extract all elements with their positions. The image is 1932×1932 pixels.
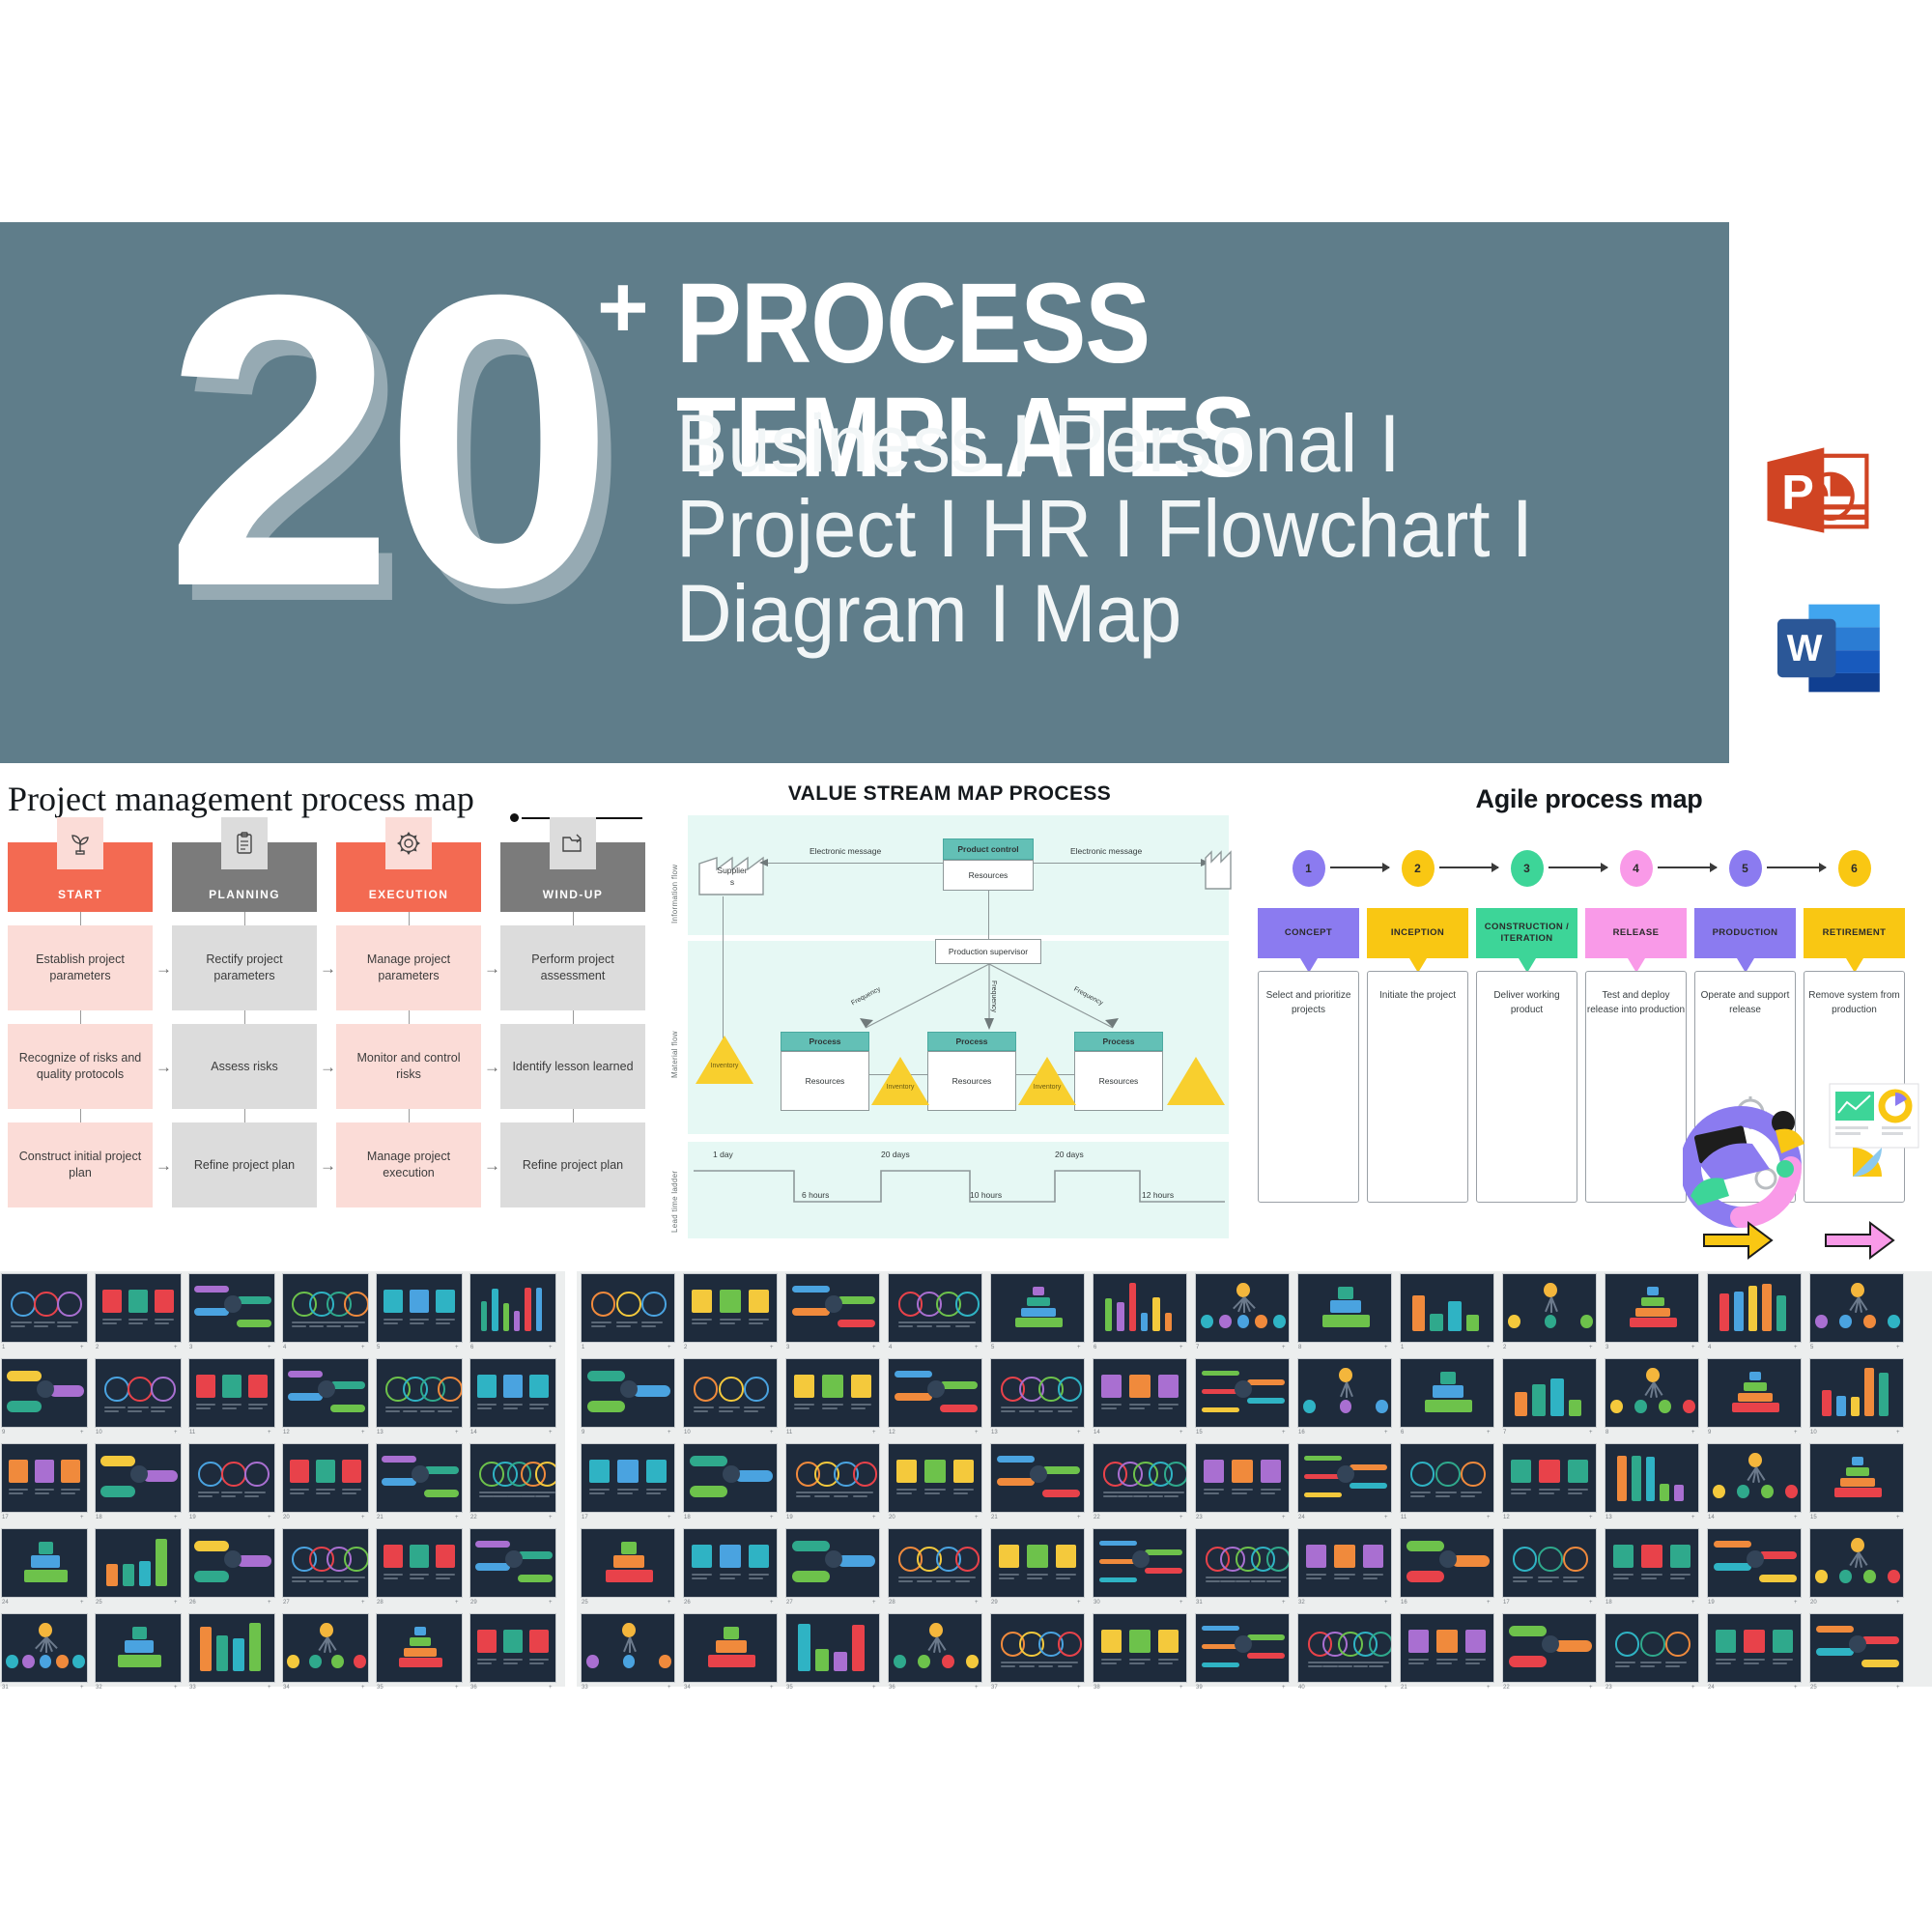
thumbnail-add-icon[interactable]: + bbox=[1077, 1600, 1081, 1605]
thumbnail-preview[interactable] bbox=[785, 1613, 880, 1683]
thumbnail-add-icon[interactable]: + bbox=[1896, 1685, 1900, 1690]
thumbnail-add-icon[interactable]: + bbox=[872, 1600, 876, 1605]
thumbnail-add-icon[interactable]: + bbox=[1896, 1345, 1900, 1350]
thumbnail-preview[interactable] bbox=[1195, 1528, 1290, 1598]
thumbnail-add-icon[interactable]: + bbox=[361, 1600, 365, 1605]
thumbnail-add-icon[interactable]: + bbox=[1691, 1685, 1695, 1690]
thumbnail-slide[interactable]: 2+ bbox=[683, 1273, 778, 1356]
thumbnail-slide[interactable]: 20+ bbox=[1809, 1528, 1904, 1611]
thumbnail-slide[interactable]: 37+ bbox=[990, 1613, 1085, 1696]
agile-step-number-3[interactable]: 3 bbox=[1511, 850, 1544, 887]
thumbnail-add-icon[interactable]: + bbox=[1794, 1430, 1798, 1435]
thumbnail-add-icon[interactable]: + bbox=[80, 1345, 84, 1350]
thumbnail-add-icon[interactable]: + bbox=[549, 1430, 553, 1435]
thumbnail-slide[interactable]: 24+ bbox=[1707, 1613, 1802, 1696]
thumbnail-add-icon[interactable]: + bbox=[361, 1430, 365, 1435]
thumbnail-preview[interactable] bbox=[888, 1358, 982, 1428]
thumbnail-preview[interactable] bbox=[1, 1358, 88, 1428]
thumbnail-slide[interactable]: 22+ bbox=[1093, 1443, 1187, 1526]
thumbnail-preview[interactable] bbox=[1093, 1273, 1187, 1343]
thumbnail-slide[interactable]: 1+ bbox=[1, 1273, 88, 1356]
thumbnail-add-icon[interactable]: + bbox=[268, 1430, 271, 1435]
thumbnail-slide[interactable]: 19+ bbox=[785, 1443, 880, 1526]
thumbnail-add-icon[interactable]: + bbox=[1179, 1600, 1183, 1605]
thumbnail-slide[interactable]: 27+ bbox=[282, 1528, 369, 1611]
thumbnail-add-icon[interactable]: + bbox=[1896, 1430, 1900, 1435]
thumbnail-preview[interactable] bbox=[888, 1613, 982, 1683]
agile-step-number-1[interactable]: 1 bbox=[1293, 850, 1325, 887]
thumbnail-preview[interactable] bbox=[1297, 1358, 1392, 1428]
thumbnail-preview[interactable] bbox=[1, 1613, 88, 1683]
thumbnail-preview[interactable] bbox=[683, 1528, 778, 1598]
agile-stage-panel-1[interactable]: Select and prioritize projects bbox=[1258, 971, 1359, 1203]
thumbnail-slide[interactable]: 12+ bbox=[888, 1358, 982, 1441]
thumbnail-preview[interactable] bbox=[95, 1528, 182, 1598]
thumbnail-add-icon[interactable]: + bbox=[268, 1345, 271, 1350]
thumbnail-preview[interactable] bbox=[376, 1273, 463, 1343]
thumbnail-preview[interactable] bbox=[1297, 1528, 1392, 1598]
thumbnail-slide[interactable]: 36+ bbox=[888, 1613, 982, 1696]
thumbnail-add-icon[interactable]: + bbox=[268, 1600, 271, 1605]
thumbnail-preview[interactable] bbox=[581, 1273, 675, 1343]
thumbnail-add-icon[interactable]: + bbox=[174, 1430, 178, 1435]
thumbnail-preview[interactable] bbox=[1400, 1273, 1494, 1343]
thumbnail-add-icon[interactable]: + bbox=[975, 1515, 979, 1520]
thumbnail-preview[interactable] bbox=[1297, 1443, 1392, 1513]
thumbnail-add-icon[interactable]: + bbox=[1077, 1345, 1081, 1350]
thumbnail-add-icon[interactable]: + bbox=[1282, 1685, 1286, 1690]
thumbnail-add-icon[interactable]: + bbox=[1589, 1345, 1593, 1350]
thumbnail-add-icon[interactable]: + bbox=[1589, 1515, 1593, 1520]
thumbnail-add-icon[interactable]: + bbox=[1384, 1345, 1388, 1350]
thumbnail-add-icon[interactable]: + bbox=[1077, 1430, 1081, 1435]
thumbnail-add-icon[interactable]: + bbox=[1896, 1515, 1900, 1520]
thumbnail-slide[interactable]: 29+ bbox=[990, 1528, 1085, 1611]
thumbnail-add-icon[interactable]: + bbox=[1384, 1685, 1388, 1690]
thumbnail-preview[interactable] bbox=[1707, 1443, 1802, 1513]
thumbnail-slide[interactable]: 30+ bbox=[1093, 1528, 1187, 1611]
thumbnail-preview[interactable] bbox=[1707, 1358, 1802, 1428]
thumbnail-preview[interactable] bbox=[282, 1613, 369, 1683]
thumbnail-preview[interactable] bbox=[1707, 1273, 1802, 1343]
thumbnail-slide[interactable]: 18+ bbox=[683, 1443, 778, 1526]
thumbnail-add-icon[interactable]: + bbox=[174, 1685, 178, 1690]
thumbnail-preview[interactable] bbox=[581, 1528, 675, 1598]
thumbnail-slide[interactable]: 21+ bbox=[1400, 1613, 1494, 1696]
thumbnail-add-icon[interactable]: + bbox=[174, 1345, 178, 1350]
thumbnail-slide[interactable]: 11+ bbox=[1400, 1443, 1494, 1526]
thumbnail-preview[interactable] bbox=[683, 1358, 778, 1428]
thumbnail-slide[interactable]: 33+ bbox=[188, 1613, 275, 1696]
thumbnail-slide[interactable]: 31+ bbox=[1195, 1528, 1290, 1611]
thumbnail-slide[interactable]: 10+ bbox=[683, 1358, 778, 1441]
thumbnail-slide[interactable]: 16+ bbox=[1400, 1528, 1494, 1611]
thumbnail-slide[interactable]: 3+ bbox=[785, 1273, 880, 1356]
thumbnail-add-icon[interactable]: + bbox=[872, 1430, 876, 1435]
thumbnail-add-icon[interactable]: + bbox=[668, 1430, 671, 1435]
thumbnail-add-icon[interactable]: + bbox=[668, 1345, 671, 1350]
thumbnail-slide[interactable]: 15+ bbox=[1809, 1443, 1904, 1526]
thumbnail-preview[interactable] bbox=[1605, 1613, 1699, 1683]
thumbnail-preview[interactable] bbox=[282, 1528, 369, 1598]
thumbnail-preview[interactable] bbox=[1809, 1613, 1904, 1683]
thumbnail-add-icon[interactable]: + bbox=[975, 1600, 979, 1605]
thumbnail-slide[interactable]: 13+ bbox=[990, 1358, 1085, 1441]
thumbnail-slide[interactable]: 6+ bbox=[1400, 1358, 1494, 1441]
thumbnail-slide[interactable]: 20+ bbox=[282, 1443, 369, 1526]
thumbnail-preview[interactable] bbox=[95, 1443, 182, 1513]
thumbnail-add-icon[interactable]: + bbox=[455, 1515, 459, 1520]
thumbnail-slide[interactable]: 25+ bbox=[95, 1528, 182, 1611]
thumbnail-add-icon[interactable]: + bbox=[668, 1600, 671, 1605]
thumbnail-add-icon[interactable]: + bbox=[1282, 1515, 1286, 1520]
thumbnail-add-icon[interactable]: + bbox=[975, 1430, 979, 1435]
thumbnail-slide[interactable]: 12+ bbox=[282, 1358, 369, 1441]
thumbnail-preview[interactable] bbox=[683, 1443, 778, 1513]
thumbnail-add-icon[interactable]: + bbox=[1691, 1515, 1695, 1520]
agile-stage-panel-4[interactable]: Test and deploy release into production bbox=[1585, 971, 1687, 1203]
thumbnail-add-icon[interactable]: + bbox=[549, 1600, 553, 1605]
thumbnail-preview[interactable] bbox=[1, 1528, 88, 1598]
thumbnail-slide[interactable]: 18+ bbox=[1605, 1528, 1699, 1611]
thumbnail-preview[interactable] bbox=[1400, 1443, 1494, 1513]
thumbnail-slide[interactable]: 18+ bbox=[95, 1443, 182, 1526]
thumbnail-preview[interactable] bbox=[95, 1273, 182, 1343]
thumbnail-add-icon[interactable]: + bbox=[770, 1600, 774, 1605]
thumbnail-slide[interactable]: 4+ bbox=[282, 1273, 369, 1356]
thumbnail-add-icon[interactable]: + bbox=[549, 1345, 553, 1350]
thumbnail-slide[interactable]: 33+ bbox=[581, 1613, 675, 1696]
thumbnail-add-icon[interactable]: + bbox=[1487, 1685, 1491, 1690]
thumbnail-preview[interactable] bbox=[990, 1443, 1085, 1513]
agile-stage-chip-5[interactable]: PRODUCTION bbox=[1694, 908, 1796, 958]
thumbnail-add-icon[interactable]: + bbox=[1691, 1430, 1695, 1435]
thumbnail-slide[interactable]: 19+ bbox=[1707, 1528, 1802, 1611]
thumbnail-slide[interactable]: 3+ bbox=[1605, 1273, 1699, 1356]
thumbnail-add-icon[interactable]: + bbox=[1077, 1515, 1081, 1520]
thumbnail-add-icon[interactable]: + bbox=[80, 1430, 84, 1435]
thumbnail-preview[interactable] bbox=[376, 1613, 463, 1683]
thumbnail-preview[interactable] bbox=[469, 1273, 556, 1343]
thumbnail-add-icon[interactable]: + bbox=[872, 1685, 876, 1690]
thumbnail-add-icon[interactable]: + bbox=[1794, 1345, 1798, 1350]
thumbnail-slide[interactable]: 19+ bbox=[188, 1443, 275, 1526]
thumbnail-add-icon[interactable]: + bbox=[872, 1515, 876, 1520]
thumbnail-preview[interactable] bbox=[188, 1528, 275, 1598]
thumbnail-preview[interactable] bbox=[1502, 1528, 1597, 1598]
thumbnail-add-icon[interactable]: + bbox=[549, 1685, 553, 1690]
thumbnail-add-icon[interactable]: + bbox=[770, 1345, 774, 1350]
thumbnail-grid-right[interactable]: 1+2+3+4+5+6+7+8+1+2+3+4+5+9+10+11+12+13+… bbox=[577, 1271, 1932, 1687]
agile-step-number-4[interactable]: 4 bbox=[1620, 850, 1653, 887]
thumbnail-add-icon[interactable]: + bbox=[549, 1515, 553, 1520]
thumbnail-preview[interactable] bbox=[1809, 1528, 1904, 1598]
thumbnail-slide[interactable]: 3+ bbox=[188, 1273, 275, 1356]
thumbnail-slide[interactable]: 11+ bbox=[188, 1358, 275, 1441]
thumbnail-add-icon[interactable]: + bbox=[174, 1515, 178, 1520]
thumbnail-add-icon[interactable]: + bbox=[975, 1685, 979, 1690]
thumbnail-add-icon[interactable]: + bbox=[268, 1515, 271, 1520]
thumbnail-add-icon[interactable]: + bbox=[770, 1685, 774, 1690]
thumbnail-slide[interactable]: 27+ bbox=[785, 1528, 880, 1611]
thumbnail-slide[interactable]: 23+ bbox=[1605, 1613, 1699, 1696]
thumbnail-add-icon[interactable]: + bbox=[268, 1685, 271, 1690]
thumbnail-add-icon[interactable]: + bbox=[1487, 1600, 1491, 1605]
thumbnail-preview[interactable] bbox=[1605, 1528, 1699, 1598]
thumbnail-preview[interactable] bbox=[1605, 1443, 1699, 1513]
thumbnail-add-icon[interactable]: + bbox=[80, 1600, 84, 1605]
agile-stage-chip-1[interactable]: CONCEPT bbox=[1258, 908, 1359, 958]
thumbnail-slide[interactable]: 13+ bbox=[376, 1358, 463, 1441]
thumbnail-slide[interactable]: 28+ bbox=[888, 1528, 982, 1611]
thumbnail-slide[interactable]: 17+ bbox=[581, 1443, 675, 1526]
thumbnail-slide[interactable]: 21+ bbox=[376, 1443, 463, 1526]
thumbnail-slide[interactable]: 5+ bbox=[990, 1273, 1085, 1356]
thumbnail-add-icon[interactable]: + bbox=[174, 1600, 178, 1605]
thumbnail-add-icon[interactable]: + bbox=[1794, 1685, 1798, 1690]
thumbnail-preview[interactable] bbox=[469, 1358, 556, 1428]
thumbnail-preview[interactable] bbox=[376, 1358, 463, 1428]
thumbnail-preview[interactable] bbox=[1400, 1528, 1494, 1598]
thumbnail-preview[interactable] bbox=[188, 1613, 275, 1683]
thumbnail-slide[interactable]: 15+ bbox=[1195, 1358, 1290, 1441]
thumbnail-preview[interactable] bbox=[683, 1613, 778, 1683]
thumbnail-preview[interactable] bbox=[1093, 1613, 1187, 1683]
thumbnail-add-icon[interactable]: + bbox=[1589, 1685, 1593, 1690]
agile-stage-panel-3[interactable]: Deliver working product bbox=[1476, 971, 1577, 1203]
thumbnail-preview[interactable] bbox=[1707, 1528, 1802, 1598]
thumbnail-preview[interactable] bbox=[469, 1528, 556, 1598]
thumbnail-add-icon[interactable]: + bbox=[1487, 1345, 1491, 1350]
thumbnail-slide[interactable]: 17+ bbox=[1502, 1528, 1597, 1611]
thumbnail-slide[interactable]: 14+ bbox=[1093, 1358, 1187, 1441]
thumbnail-slide[interactable]: 14+ bbox=[1707, 1443, 1802, 1526]
thumbnail-preview[interactable] bbox=[990, 1528, 1085, 1598]
thumbnail-add-icon[interactable]: + bbox=[1282, 1430, 1286, 1435]
thumbnail-slide[interactable]: 26+ bbox=[188, 1528, 275, 1611]
thumbnail-preview[interactable] bbox=[1707, 1613, 1802, 1683]
thumbnail-preview[interactable] bbox=[1502, 1613, 1597, 1683]
thumbnail-preview[interactable] bbox=[1502, 1273, 1597, 1343]
thumbnail-slide[interactable]: 16+ bbox=[1297, 1358, 1392, 1441]
thumbnail-slide[interactable]: 39+ bbox=[1195, 1613, 1290, 1696]
thumbnail-preview[interactable] bbox=[95, 1613, 182, 1683]
thumbnail-slide[interactable]: 22+ bbox=[469, 1443, 556, 1526]
thumbnail-slide[interactable]: 35+ bbox=[785, 1613, 880, 1696]
thumbnail-preview[interactable] bbox=[282, 1358, 369, 1428]
thumbnail-slide[interactable]: 31+ bbox=[1, 1613, 88, 1696]
thumbnail-add-icon[interactable]: + bbox=[361, 1685, 365, 1690]
thumbnail-add-icon[interactable]: + bbox=[455, 1430, 459, 1435]
thumbnail-slide[interactable]: 10+ bbox=[1809, 1358, 1904, 1441]
thumbnail-slide[interactable]: 6+ bbox=[1093, 1273, 1187, 1356]
thumbnail-preview[interactable] bbox=[1502, 1443, 1597, 1513]
thumbnail-preview[interactable] bbox=[785, 1358, 880, 1428]
thumbnail-slide[interactable]: 10+ bbox=[95, 1358, 182, 1441]
thumbnail-slide[interactable]: 2+ bbox=[1502, 1273, 1597, 1356]
thumbnail-add-icon[interactable]: + bbox=[1077, 1685, 1081, 1690]
thumbnail-slide[interactable]: 35+ bbox=[376, 1613, 463, 1696]
thumbnail-slide[interactable]: 32+ bbox=[1297, 1528, 1392, 1611]
thumbnail-add-icon[interactable]: + bbox=[80, 1685, 84, 1690]
thumbnail-slide[interactable]: 4+ bbox=[1707, 1273, 1802, 1356]
thumbnail-add-icon[interactable]: + bbox=[1691, 1345, 1695, 1350]
thumbnail-preview[interactable] bbox=[1, 1443, 88, 1513]
agile-step-number-6[interactable]: 6 bbox=[1838, 850, 1871, 887]
thumbnail-slide[interactable]: 7+ bbox=[1195, 1273, 1290, 1356]
thumbnail-slide[interactable]: 5+ bbox=[1809, 1273, 1904, 1356]
thumbnail-preview[interactable] bbox=[1809, 1273, 1904, 1343]
thumbnail-slide[interactable]: 8+ bbox=[1297, 1273, 1392, 1356]
thumbnail-slide[interactable]: 8+ bbox=[1605, 1358, 1699, 1441]
thumbnail-slide[interactable]: 25+ bbox=[1809, 1613, 1904, 1696]
thumbnail-slide[interactable]: 13+ bbox=[1605, 1443, 1699, 1526]
thumbnail-add-icon[interactable]: + bbox=[668, 1685, 671, 1690]
thumbnail-preview[interactable] bbox=[990, 1613, 1085, 1683]
thumbnail-preview[interactable] bbox=[1093, 1443, 1187, 1513]
agile-stage-chip-2[interactable]: INCEPTION bbox=[1367, 908, 1468, 958]
thumbnail-preview[interactable] bbox=[1195, 1358, 1290, 1428]
agile-stage-chip-4[interactable]: RELEASE bbox=[1585, 908, 1687, 958]
thumbnail-slide[interactable]: 34+ bbox=[282, 1613, 369, 1696]
thumbnail-slide[interactable]: 34+ bbox=[683, 1613, 778, 1696]
thumbnail-slide[interactable]: 38+ bbox=[1093, 1613, 1187, 1696]
thumbnail-slide[interactable]: 4+ bbox=[888, 1273, 982, 1356]
thumbnail-add-icon[interactable]: + bbox=[770, 1430, 774, 1435]
thumbnail-add-icon[interactable]: + bbox=[1384, 1515, 1388, 1520]
thumbnail-preview[interactable] bbox=[1, 1273, 88, 1343]
thumbnail-slide[interactable]: 22+ bbox=[1502, 1613, 1597, 1696]
thumbnail-add-icon[interactable]: + bbox=[1794, 1600, 1798, 1605]
thumbnail-preview[interactable] bbox=[376, 1443, 463, 1513]
thumbnail-preview[interactable] bbox=[1195, 1273, 1290, 1343]
thumbnail-slide[interactable]: 6+ bbox=[469, 1273, 556, 1356]
thumbnail-preview[interactable] bbox=[785, 1443, 880, 1513]
thumbnail-slide[interactable]: 12+ bbox=[1502, 1443, 1597, 1526]
agile-step-number-5[interactable]: 5 bbox=[1729, 850, 1762, 887]
thumbnail-add-icon[interactable]: + bbox=[1384, 1430, 1388, 1435]
thumbnail-add-icon[interactable]: + bbox=[668, 1515, 671, 1520]
thumbnail-preview[interactable] bbox=[1605, 1273, 1699, 1343]
thumbnail-preview[interactable] bbox=[990, 1273, 1085, 1343]
thumbnail-add-icon[interactable]: + bbox=[975, 1345, 979, 1350]
thumbnail-preview[interactable] bbox=[581, 1443, 675, 1513]
thumbnail-slide[interactable]: 24+ bbox=[1297, 1443, 1392, 1526]
thumbnail-preview[interactable] bbox=[888, 1443, 982, 1513]
thumbnail-add-icon[interactable]: + bbox=[770, 1515, 774, 1520]
thumbnail-add-icon[interactable]: + bbox=[1794, 1515, 1798, 1520]
thumbnail-preview[interactable] bbox=[1195, 1613, 1290, 1683]
thumbnail-add-icon[interactable]: + bbox=[1282, 1345, 1286, 1350]
thumbnail-slide[interactable]: 1+ bbox=[581, 1273, 675, 1356]
thumbnail-preview[interactable] bbox=[1605, 1358, 1699, 1428]
thumbnail-slide[interactable]: 11+ bbox=[785, 1358, 880, 1441]
thumbnail-preview[interactable] bbox=[1297, 1273, 1392, 1343]
thumbnail-slide[interactable]: 2+ bbox=[95, 1273, 182, 1356]
thumbnail-preview[interactable] bbox=[188, 1273, 275, 1343]
thumbnail-preview[interactable] bbox=[683, 1273, 778, 1343]
thumbnail-preview[interactable] bbox=[1195, 1443, 1290, 1513]
thumbnail-preview[interactable] bbox=[1809, 1358, 1904, 1428]
thumbnail-grid-left[interactable]: 1+2+3+4+5+6+9+10+11+12+13+14+17+18+19+20… bbox=[0, 1271, 565, 1687]
thumbnail-preview[interactable] bbox=[469, 1443, 556, 1513]
thumbnail-preview[interactable] bbox=[888, 1528, 982, 1598]
thumbnail-preview[interactable] bbox=[188, 1443, 275, 1513]
thumbnail-add-icon[interactable]: + bbox=[1589, 1600, 1593, 1605]
thumbnail-preview[interactable] bbox=[785, 1273, 880, 1343]
thumbnail-add-icon[interactable]: + bbox=[80, 1515, 84, 1520]
thumbnail-slide[interactable]: 36+ bbox=[469, 1613, 556, 1696]
thumbnail-add-icon[interactable]: + bbox=[1282, 1600, 1286, 1605]
thumbnail-preview[interactable] bbox=[188, 1358, 275, 1428]
thumbnail-preview[interactable] bbox=[1093, 1358, 1187, 1428]
thumbnail-slide[interactable]: 29+ bbox=[469, 1528, 556, 1611]
agile-step-number-2[interactable]: 2 bbox=[1402, 850, 1435, 887]
thumbnail-add-icon[interactable]: + bbox=[455, 1600, 459, 1605]
thumbnail-add-icon[interactable]: + bbox=[1179, 1430, 1183, 1435]
thumbnail-slide[interactable]: 20+ bbox=[888, 1443, 982, 1526]
thumbnail-slide[interactable]: 26+ bbox=[683, 1528, 778, 1611]
thumbnail-add-icon[interactable]: + bbox=[872, 1345, 876, 1350]
thumbnail-slide[interactable]: 9+ bbox=[1, 1358, 88, 1441]
thumbnail-add-icon[interactable]: + bbox=[1589, 1430, 1593, 1435]
thumbnail-preview[interactable] bbox=[282, 1443, 369, 1513]
thumbnail-add-icon[interactable]: + bbox=[1691, 1600, 1695, 1605]
thumbnail-slide[interactable]: 21+ bbox=[990, 1443, 1085, 1526]
thumbnail-preview[interactable] bbox=[1400, 1358, 1494, 1428]
thumbnail-slide[interactable]: 5+ bbox=[376, 1273, 463, 1356]
thumbnail-slide[interactable]: 24+ bbox=[1, 1528, 88, 1611]
thumbnail-add-icon[interactable]: + bbox=[1179, 1515, 1183, 1520]
thumbnail-preview[interactable] bbox=[469, 1613, 556, 1683]
agile-stage-chip-3[interactable]: CONSTRUCTION / ITERATION bbox=[1476, 908, 1577, 958]
thumbnail-add-icon[interactable]: + bbox=[1487, 1430, 1491, 1435]
thumbnail-add-icon[interactable]: + bbox=[1896, 1600, 1900, 1605]
thumbnail-add-icon[interactable]: + bbox=[1179, 1685, 1183, 1690]
thumbnail-add-icon[interactable]: + bbox=[1487, 1515, 1491, 1520]
thumbnail-slide[interactable]: 32+ bbox=[95, 1613, 182, 1696]
agile-stage-chip-6[interactable]: RETIREMENT bbox=[1804, 908, 1905, 958]
thumbnail-preview[interactable] bbox=[1297, 1613, 1392, 1683]
thumbnail-preview[interactable] bbox=[95, 1358, 182, 1428]
thumbnail-preview[interactable] bbox=[1502, 1358, 1597, 1428]
thumbnail-slide[interactable]: 7+ bbox=[1502, 1358, 1597, 1441]
thumbnail-slide[interactable]: 28+ bbox=[376, 1528, 463, 1611]
thumbnail-slide[interactable]: 25+ bbox=[581, 1528, 675, 1611]
thumbnail-add-icon[interactable]: + bbox=[1384, 1600, 1388, 1605]
thumbnail-add-icon[interactable]: + bbox=[1179, 1345, 1183, 1350]
thumbnail-add-icon[interactable]: + bbox=[455, 1685, 459, 1690]
thumbnail-preview[interactable] bbox=[581, 1358, 675, 1428]
thumbnail-slide[interactable]: 9+ bbox=[581, 1358, 675, 1441]
thumbnail-preview[interactable] bbox=[888, 1273, 982, 1343]
thumbnail-slide[interactable]: 1+ bbox=[1400, 1273, 1494, 1356]
thumbnail-add-icon[interactable]: + bbox=[361, 1345, 365, 1350]
thumbnail-slide[interactable]: 9+ bbox=[1707, 1358, 1802, 1441]
thumbnail-preview[interactable] bbox=[1400, 1613, 1494, 1683]
thumbnail-slide[interactable]: 40+ bbox=[1297, 1613, 1392, 1696]
thumbnail-preview[interactable] bbox=[376, 1528, 463, 1598]
thumbnail-preview[interactable] bbox=[581, 1613, 675, 1683]
thumbnail-add-icon[interactable]: + bbox=[361, 1515, 365, 1520]
thumbnail-preview[interactable] bbox=[785, 1528, 880, 1598]
thumbnail-add-icon[interactable]: + bbox=[455, 1345, 459, 1350]
thumbnail-preview[interactable] bbox=[282, 1273, 369, 1343]
thumbnail-slide[interactable]: 14+ bbox=[469, 1358, 556, 1441]
thumbnail-preview[interactable] bbox=[1093, 1528, 1187, 1598]
thumbnail-slide[interactable]: 17+ bbox=[1, 1443, 88, 1526]
thumbnail-slide[interactable]: 23+ bbox=[1195, 1443, 1290, 1526]
